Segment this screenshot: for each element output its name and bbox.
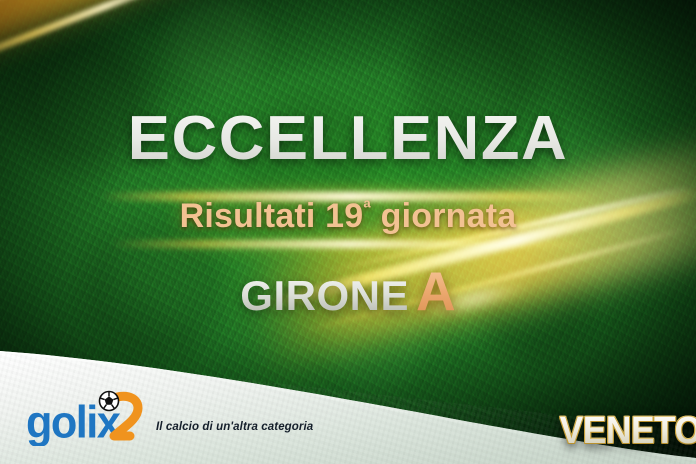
matchday-ordinal-marker: ª [363, 198, 371, 220]
logo-tagline: Il calcio di un'altra categoria [156, 421, 313, 433]
league-title: ECCELLENZA [0, 108, 696, 170]
region-label: VENETO [560, 412, 696, 450]
promo-banner: ECCELLENZA Risultati 19ª giornata GIRONE… [0, 0, 696, 464]
group-line: GIRONEA [0, 264, 696, 319]
matchday-subtitle-prefix: Risultati 19 [180, 197, 364, 235]
matchday-subtitle: Risultati 19ª giornata [0, 199, 696, 233]
matchday-subtitle-suffix: giornata [371, 197, 516, 235]
group-word: GIRONE [240, 272, 409, 319]
group-letter: A [416, 260, 456, 322]
golix-wordmark-mark: golix [26, 390, 146, 446]
soccer-ball-icon [100, 392, 119, 411]
golix-logo[interactable]: golix Il calcio di un'altra categoria [26, 390, 313, 446]
